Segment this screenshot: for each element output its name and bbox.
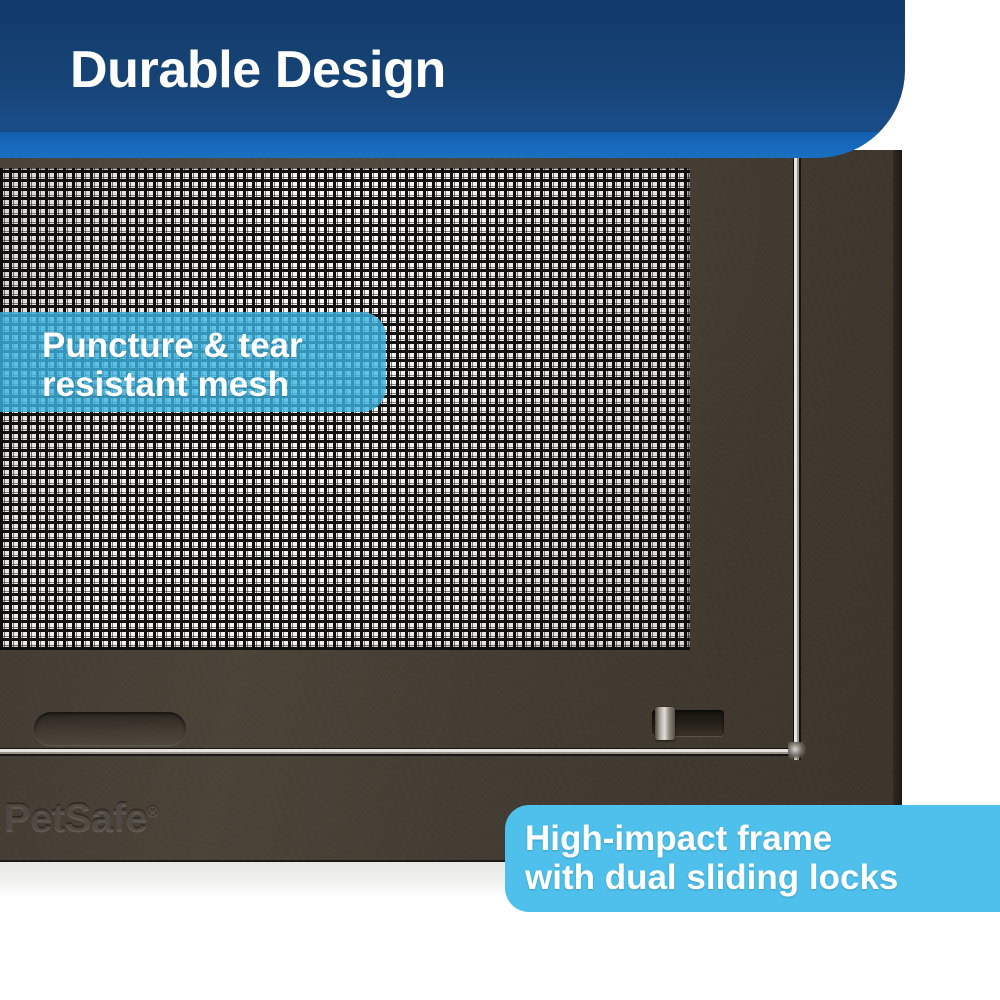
stile-seam (793, 150, 801, 760)
callout-mesh: Puncture & tear resistant mesh (0, 312, 386, 412)
rail-seam (0, 748, 800, 756)
callout-frame: High-impact frame with dual sliding lock… (505, 805, 1000, 912)
lock-right-pin (655, 707, 675, 740)
page-title: Durable Design (70, 42, 446, 99)
seam-joint (788, 742, 806, 760)
frame-right-edge (893, 150, 902, 862)
callout-frame-line1: High-impact frame (525, 819, 990, 858)
header-banner-stripe (0, 132, 905, 158)
callout-frame-line2: with dual sliding locks (525, 858, 990, 897)
registered-trademark-symbol: ® (147, 804, 158, 821)
lock-left-slot (34, 712, 186, 746)
callout-mesh-line1: Puncture & tear (42, 326, 368, 365)
callout-mesh-line2: resistant mesh (42, 365, 368, 404)
petsafe-brandmark-text: PetSafe (4, 796, 147, 840)
petsafe-brandmark: PetSafe® (4, 796, 158, 841)
product-feature-image: PetSafe® Durable Design Puncture & tear … (0, 0, 1000, 1000)
